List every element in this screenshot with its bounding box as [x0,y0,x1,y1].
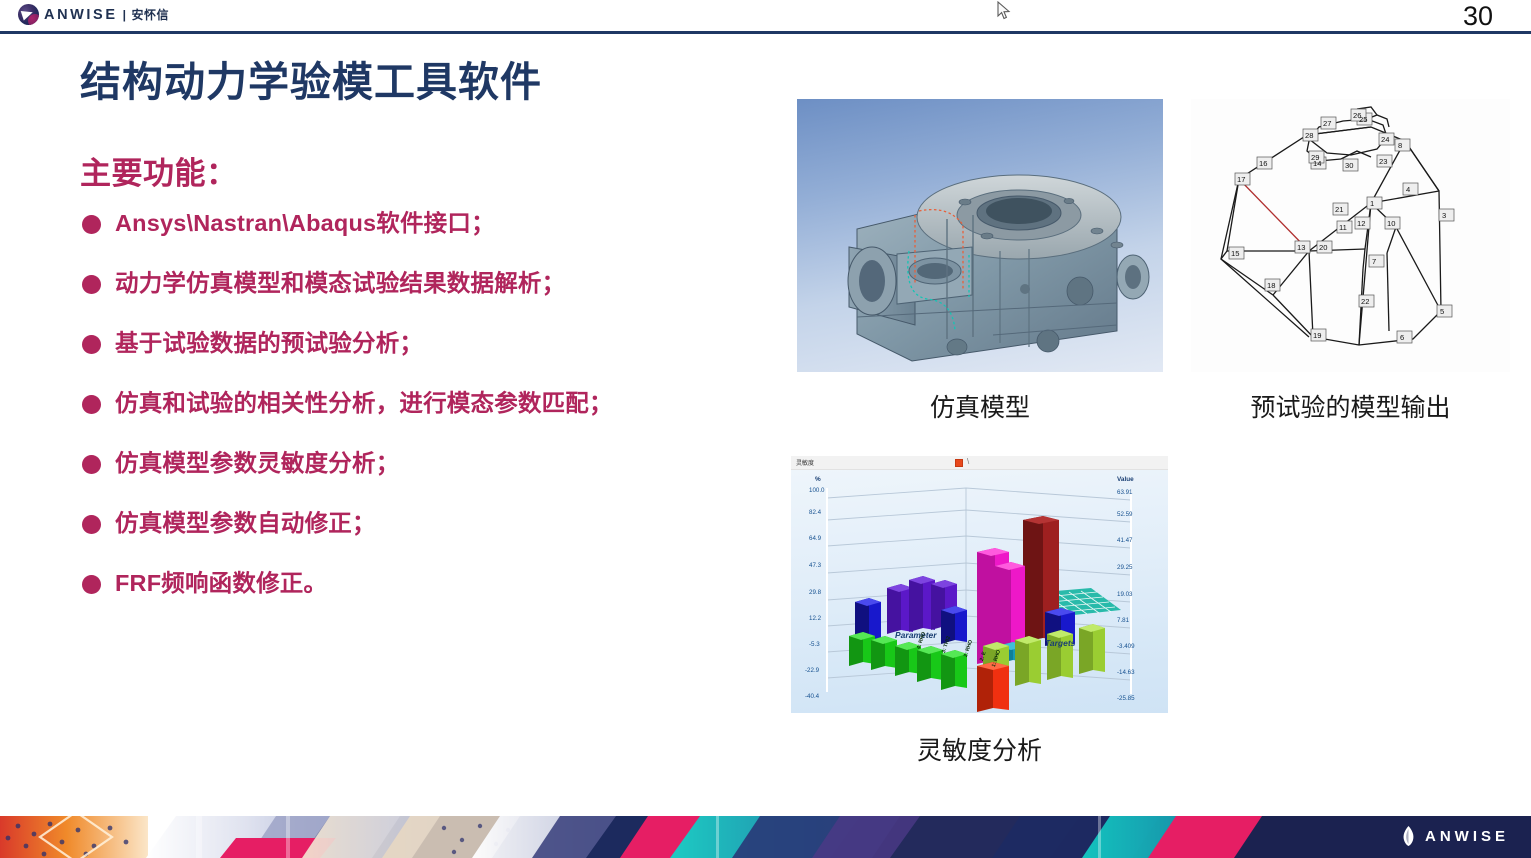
list-item: 仿真和试验的相关性分析，进行模态参数匹配； [82,388,802,448]
svg-text:12: 12 [1357,219,1365,228]
slide-canvas: ANWISE | 安怀信 30 结构动力学验模工具软件 主要功能： Ansys\… [0,0,1531,858]
svg-text:27: 27 [1323,119,1331,128]
footer-brand-label: ANWISE [1425,828,1509,845]
right-tick-1: 52.59 [1117,511,1132,518]
right-tick-0: 63.91 [1117,489,1132,496]
bar-green-2 [871,636,897,670]
svg-text:7: 7 [1372,257,1376,266]
bullet-dot-icon [82,215,101,234]
list-item: 基于试验数据的预试验分析； [82,328,802,388]
anwise-logo-icon [18,4,39,25]
svg-text:11: 11 [1339,223,1347,232]
figure-caption-pretest-model-output: 预试验的模型输出 [1191,388,1510,424]
list-item: 仿真模型参数自动修正； [82,508,802,568]
cad-housing-illustration [797,99,1163,372]
wireframe-node-mesh-illustration: 143 567 81011 121314 151617 181920 21222… [1191,99,1510,372]
svg-text:18: 18 [1267,281,1275,290]
figure-pretest-model-output: 143 567 81011 121314 151617 181920 21222… [1191,99,1510,372]
svg-text:15: 15 [1231,249,1239,258]
anwise-mark-icon [1400,826,1417,846]
axis-label-percent: % [815,476,821,483]
list-item-label: Ansys\Nastran\Abaqus软件接口； [115,208,495,240]
figure-sensitivity-analysis: 灵敏度 \ [791,456,1168,713]
figure-simulation-model [797,99,1163,372]
figure-caption-sensitivity-analysis: 灵敏度分析 [791,731,1168,767]
axis-label-parameter: Parameter [895,630,937,640]
footer-decorative-graphic [0,816,1531,858]
list-item-label: 基于试验数据的预试验分析； [115,328,423,360]
list-item: FRF频响函数修正。 [82,568,802,628]
top-bar: ANWISE | 安怀信 30 [0,0,1531,32]
list-item-label: 动力学仿真模型和模态试验结果数据解析； [115,268,565,300]
list-item: Ansys\Nastran\Abaqus软件接口； [82,208,802,268]
svg-text:21: 21 [1335,205,1343,214]
chart-toolbar-icon[interactable] [955,459,963,467]
svg-text:16: 16 [1259,159,1267,168]
svg-text:28: 28 [1305,131,1313,140]
bar-red-front [977,662,1009,712]
bullet-dot-icon [82,515,101,534]
chart-plot-area: % Value 100.0 82.4 64.9 47.3 29.8 12.2 -… [791,470,1168,713]
list-item: 仿真模型参数灵敏度分析； [82,448,802,508]
right-tick-8: -25.85 [1117,695,1135,702]
list-item-label: 仿真和试验的相关性分析，进行模态参数匹配； [115,388,613,420]
svg-text:30: 30 [1345,161,1353,170]
svg-text:22: 22 [1361,297,1369,306]
left-tick-5: 12.2 [809,615,821,622]
left-tick-4: 29.8 [809,589,821,596]
svg-text:13: 13 [1297,243,1305,252]
feature-list: Ansys\Nastran\Abaqus软件接口； 动力学仿真模型和模态试验结果… [82,208,802,628]
bar-green-4 [917,646,943,682]
right-tick-2: 41.47 [1117,537,1132,544]
svg-text:4: 4 [1406,185,1410,194]
svg-text:6: 6 [1400,333,1404,342]
left-tick-0: 100.0 [809,487,824,494]
svg-text:19: 19 [1313,331,1321,340]
brand-logo: ANWISE | 安怀信 [18,4,169,25]
svg-text:3: 3 [1442,211,1446,220]
brand-separator: | [123,8,127,22]
left-tick-3: 47.3 [809,562,821,569]
right-tick-3: 29.25 [1117,564,1132,571]
axis-label-targets: Targets [1045,638,1075,648]
list-item-label: 仿真模型参数灵敏度分析； [115,448,399,480]
left-tick-2: 64.9 [809,535,821,542]
svg-text:20: 20 [1319,243,1327,252]
page-number: 30 [1463,1,1493,32]
right-tick-5: 7.81 [1117,617,1129,624]
right-tick-6: -3.409 [1117,643,1135,650]
right-tick-4: 19.03 [1117,591,1132,598]
footer-brand: ANWISE [1400,826,1509,846]
brand-name-cn: 安怀信 [131,6,169,23]
svg-text:10: 10 [1387,219,1395,228]
chart-toolbar-divider: \ [967,457,969,466]
list-item-label: 仿真模型参数自动修正； [115,508,376,540]
svg-text:29: 29 [1311,153,1319,162]
right-tick-7: -14.63 [1117,669,1135,676]
left-tick-1: 82.4 [809,509,821,516]
sensitivity-3d-bar-chart [791,470,1168,713]
bullet-dot-icon [82,275,101,294]
svg-text:8: 8 [1398,141,1402,150]
bar-yellowgreen-4 [1079,624,1105,674]
brand-name: ANWISE [44,7,118,23]
mouse-cursor-icon [997,1,1011,21]
figure-caption-simulation-model: 仿真模型 [797,388,1163,424]
chart-window-title: 灵敏度 [796,458,814,467]
bar-yellowgreen-2 [1015,636,1041,686]
bullet-dot-icon [82,455,101,474]
left-tick-6: -5.3 [809,641,820,648]
list-item: 动力学仿真模型和模态试验结果数据解析； [82,268,802,328]
footer-banner: ANWISE [0,816,1531,858]
left-tick-8: -40.4 [805,693,819,700]
svg-text:1: 1 [1370,199,1374,208]
list-item-label: FRF频响函数修正。 [115,568,327,600]
bullet-dot-icon [82,575,101,594]
svg-text:5: 5 [1440,307,1444,316]
header-divider [0,31,1531,34]
bullet-dot-icon [82,395,101,414]
page-title: 结构动力学验模工具软件 [80,58,542,107]
bullet-dot-icon [82,335,101,354]
svg-text:24: 24 [1381,135,1389,144]
svg-text:26: 26 [1353,111,1361,120]
left-tick-7: -22.9 [805,667,819,674]
axis-label-value: Value [1117,476,1134,483]
svg-text:23: 23 [1379,157,1387,166]
svg-text:17: 17 [1237,175,1245,184]
chart-window-titlebar: 灵敏度 \ [791,456,1168,470]
section-subtitle: 主要功能： [80,148,238,193]
